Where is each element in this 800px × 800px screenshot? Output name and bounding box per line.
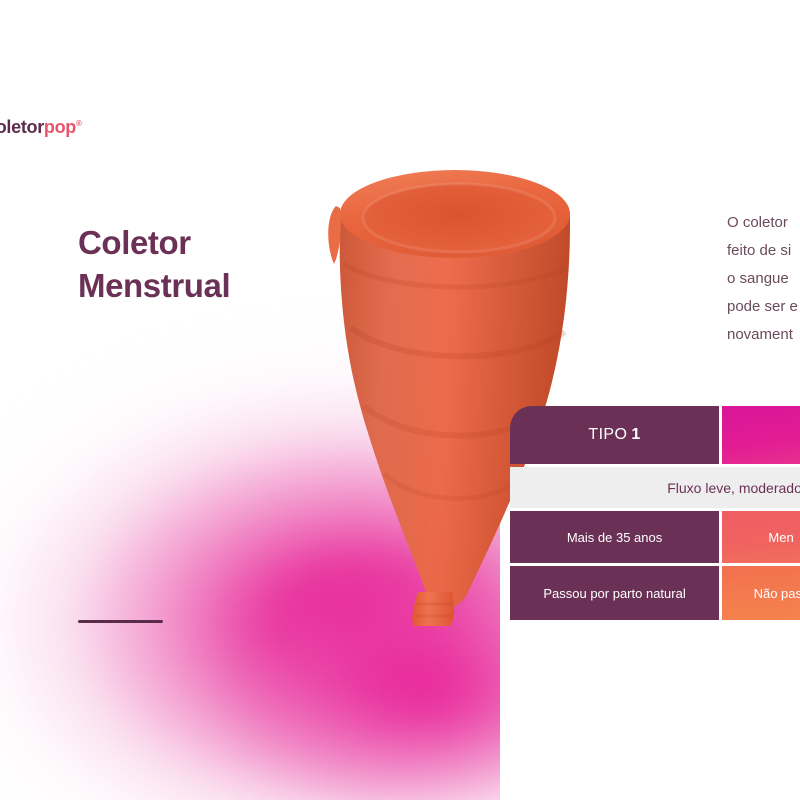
slide-canvas: coletorpop® Coletor Menstrual O coletor … — [0, 0, 800, 800]
table-header-type-label: TIPO — [588, 426, 627, 444]
table-header-type-number: 1 — [631, 426, 640, 444]
comparison-table: TIPO1 Fluxo leve, moderado e inte Mais d… — [510, 406, 800, 620]
table-row: Passou por parto natural Não pass — [510, 566, 800, 620]
table-header-row: TIPO1 — [510, 406, 800, 464]
table-cell-birth-type2[interactable]: Não pass — [722, 566, 800, 620]
table-cell-age-type2[interactable]: Men — [722, 511, 800, 563]
table-merged-cell-flow: Fluxo leve, moderado e inte — [510, 467, 800, 508]
brand-logo-secondary: pop — [44, 117, 76, 137]
table-header-cell-type1[interactable]: TIPO1 — [510, 406, 719, 464]
brand-logo-trademark-icon: ® — [76, 119, 82, 128]
cup-left-nub — [328, 206, 341, 264]
brand-logo-primary: coletor — [0, 117, 44, 137]
table-cell-age-type1[interactable]: Mais de 35 anos — [510, 511, 719, 563]
table-merged-row: Fluxo leve, moderado e inte — [510, 467, 800, 508]
table-cell-birth-type1[interactable]: Passou por parto natural — [510, 566, 719, 620]
table-row: Mais de 35 anos Men — [510, 511, 800, 563]
divider-rule — [78, 620, 163, 623]
table-header-cell-type2[interactable] — [722, 406, 800, 464]
cup-stem — [412, 592, 454, 626]
brand-logo: coletorpop® — [0, 117, 82, 138]
description-paragraph: O coletor feito de si o sangue pode ser … — [727, 209, 800, 349]
